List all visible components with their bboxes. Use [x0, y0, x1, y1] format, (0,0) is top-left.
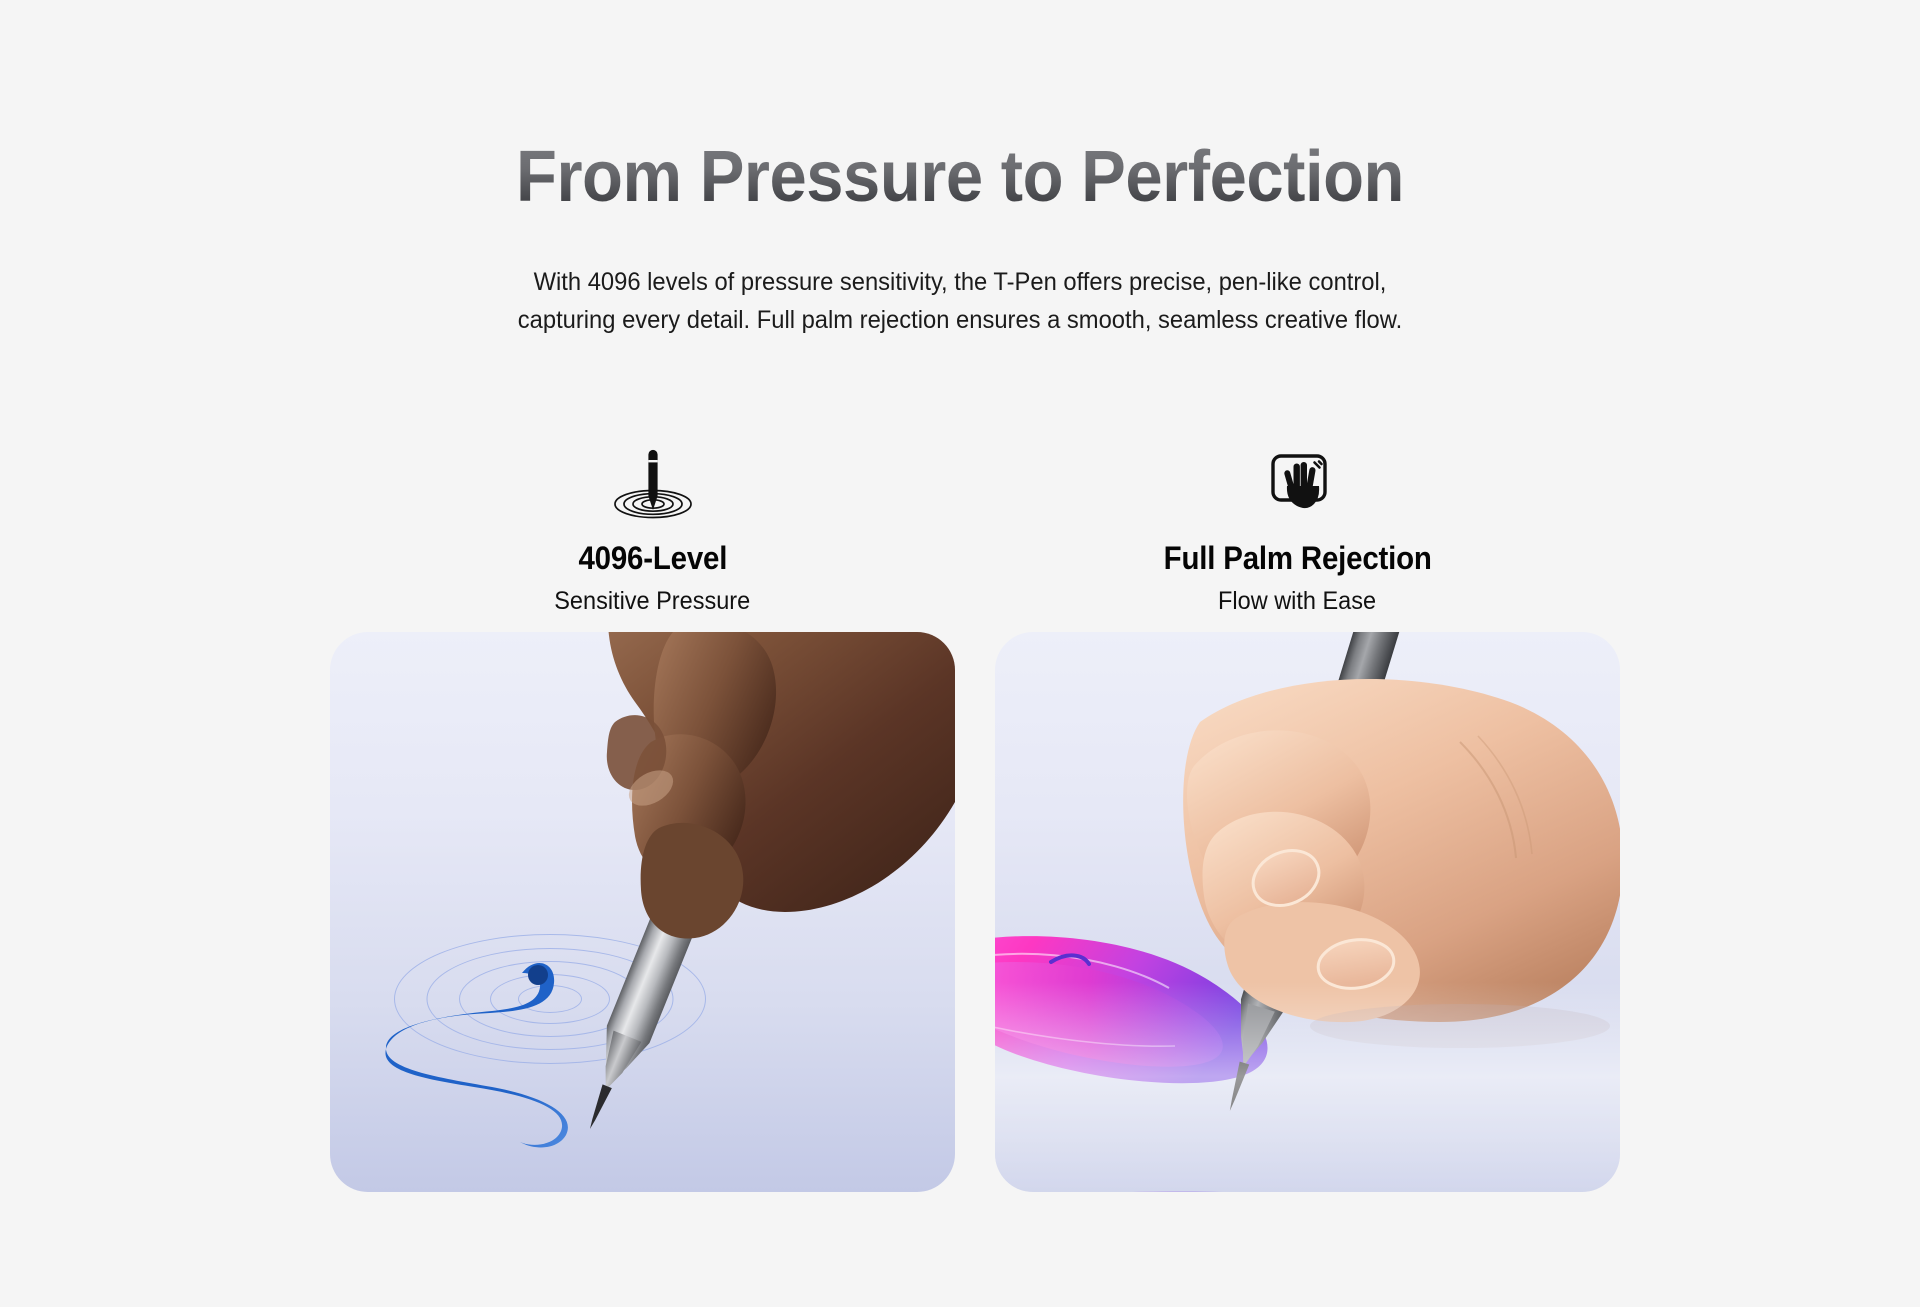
hand-holding-stylus-dark-skin	[555, 632, 955, 1012]
pressure-sensitivity-photo	[330, 632, 955, 1192]
page-subtitle: With 4096 levels of pressure sensitivity…	[430, 263, 1490, 339]
feature-caption: Flow with Ease	[1218, 587, 1376, 616]
feature-item-pressure: 4096-Level Sensitive Pressure	[330, 448, 975, 616]
feature-title: Full Palm Rejection	[1163, 540, 1431, 577]
scene-pressure	[330, 632, 955, 1192]
feature-title: 4096-Level	[578, 540, 727, 577]
page-title: From Pressure to Perfection	[67, 140, 1853, 216]
hand-resting-on-surface-light-skin	[1160, 682, 1620, 1082]
subtitle-line-1: With 4096 levels of pressure sensitivity…	[457, 263, 1464, 301]
feature-list: 4096-Level Sensitive Pressure	[330, 448, 1620, 616]
palm-rejection-photo	[995, 632, 1620, 1192]
feature-caption: Sensitive Pressure	[555, 587, 751, 616]
product-feature-page: From Pressure to Perfection With 4096 le…	[0, 0, 1920, 1307]
palm-rejection-icon	[1256, 448, 1340, 520]
stylus-ripple-icon	[612, 448, 694, 520]
subtitle-line-2: capturing every detail. Full palm reject…	[457, 301, 1464, 339]
feature-image-cards	[330, 632, 1620, 1192]
brush-stroke-reflection	[995, 1182, 1375, 1192]
feature-item-palm-rejection: Full Palm Rejection Flow with Ease	[975, 448, 1620, 616]
scene-palm-rejection	[995, 632, 1620, 1192]
